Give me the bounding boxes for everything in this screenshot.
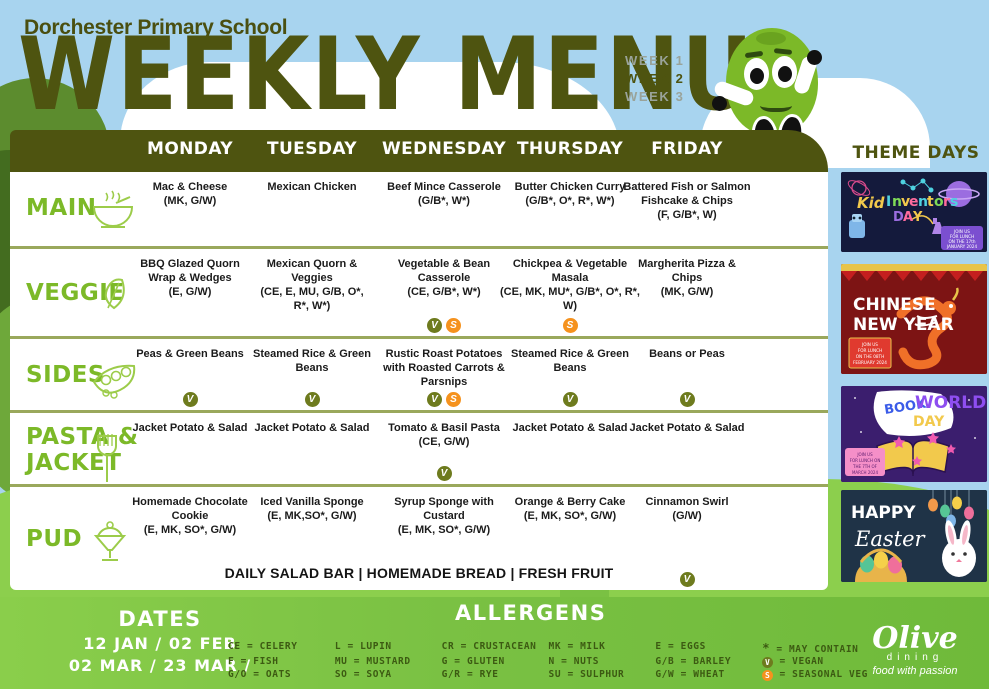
allergen-L: L = LUPIN xyxy=(335,641,436,655)
legend-key-may-contain: * = MAY CONTAIN xyxy=(762,641,868,655)
allergen-CR: CR = CRUSTACEAN xyxy=(442,641,543,655)
table-row: VEGGIEBBQ Glazed Quorn Wrap & Wedges(E, … xyxy=(10,246,828,336)
dish-name: Jacket Potato & Salad xyxy=(133,422,248,434)
svg-text:s: s xyxy=(950,194,958,210)
dish-name: Vegetable & Bean Casserole xyxy=(398,258,490,284)
dish-name: Rustic Roast Potatoes with Roasted Carro… xyxy=(383,348,505,388)
menu-cell: Mexican Quorn & Veggies(CE, E, MU, G/B, … xyxy=(252,257,372,313)
row-label-main: MAIN xyxy=(26,195,97,221)
menu-cell: Orange & Berry Cake(E, MK, SO*, G/W) xyxy=(500,495,640,523)
badge-vegan: V xyxy=(305,392,320,407)
dietary-badges: S xyxy=(500,315,640,333)
menu-cell: Vegetable & Bean Casserole(CE, G/B*, W*) xyxy=(374,257,514,299)
dietary-badges: V xyxy=(622,389,752,407)
svg-text:HAPPY: HAPPY xyxy=(851,503,916,523)
dish-name: Jacket Potato & Salad xyxy=(513,422,628,434)
week-selector[interactable]: WEEK 1 WEEK 2 WEEK 3 xyxy=(625,52,684,106)
svg-text:Kid: Kid xyxy=(857,194,885,212)
dish-allergens: (CE, MK, MU*, G/B*, O*, R*, W) xyxy=(500,285,640,313)
svg-text:FOR LUNCH ON: FOR LUNCH ON xyxy=(850,458,881,463)
svg-text:THE 7TH OF: THE 7TH OF xyxy=(852,464,878,469)
menu-cell: Jacket Potato & Salad xyxy=(252,421,372,435)
svg-text:JANUARY 2024: JANUARY 2024 xyxy=(946,244,978,249)
allergen-SU: SU = SULPHUR xyxy=(549,669,650,681)
svg-text:FEBRUARY 2024: FEBRUARY 2024 xyxy=(853,360,887,365)
allergen-G-B: G/B = BARLEY xyxy=(655,656,756,668)
svg-text:t: t xyxy=(927,194,934,210)
day-header-tuesday: TUESDAY xyxy=(252,139,372,159)
dish-allergens: (F, G/B*, W) xyxy=(622,208,752,222)
svg-text:A: A xyxy=(903,210,913,225)
dish-name: Mexican Chicken xyxy=(267,181,356,193)
dish-allergens: (G/W) xyxy=(622,509,752,523)
table-row: SIDESPeas & Green BeansVSteamed Rice & G… xyxy=(10,336,828,410)
dietary-badges: V xyxy=(374,463,514,481)
dietary-badges: VS xyxy=(374,389,514,407)
table-body: MAINMac & Cheese(MK, G/W)Mexican Chicken… xyxy=(10,172,828,590)
badge-vegan: V xyxy=(183,392,198,407)
svg-text:Y: Y xyxy=(912,210,923,225)
dish-name: Butter Chicken Curry xyxy=(515,181,626,193)
dish-allergens: (E, MK,SO*, G/W) xyxy=(252,509,372,523)
olive-dining-logo: Olive dining food with passion xyxy=(855,624,975,677)
dish-allergens: (MK, G/W) xyxy=(130,194,250,208)
allergen-MU: MU = MUSTARD xyxy=(335,656,436,668)
allergen-N: N = NUTS xyxy=(549,656,650,668)
dish-name: Syrup Sponge with Custard xyxy=(394,496,494,522)
svg-text:WORLD: WORLD xyxy=(915,393,986,413)
svg-text:FOR LUNCH: FOR LUNCH xyxy=(858,348,882,353)
badge-vegan: V xyxy=(563,392,578,407)
dates-title: DATES xyxy=(60,607,260,631)
dish-name: Mexican Quorn & Veggies xyxy=(267,258,357,284)
dish-name: Beans or Peas xyxy=(649,348,725,360)
svg-text:JOIN US: JOIN US xyxy=(861,342,878,347)
menu-cell: Rustic Roast Potatoes with Roasted Carro… xyxy=(374,347,514,389)
dietary-badges: V xyxy=(130,389,250,407)
dish-allergens: (E, MK, SO*, G/W) xyxy=(130,523,250,537)
theme-days-title: THEME DAYS xyxy=(846,143,986,163)
menu-cell: Margherita Pizza & Chips(MK, G/W) xyxy=(622,257,752,299)
dish-allergens: (G/B*, O*, R*, W*) xyxy=(500,194,640,208)
dish-name: Margherita Pizza & Chips xyxy=(638,258,736,284)
daily-extras-note: DAILY SALAD BAR | HOMEMADE BREAD | FRESH… xyxy=(10,565,828,581)
menu-cell: Steamed Rice & Green Beans xyxy=(252,347,372,375)
svg-text:DAY: DAY xyxy=(913,414,945,430)
dietary-badges: V xyxy=(252,389,372,407)
menu-cell: Homemade Chocolate Cookie(E, MK, SO*, G/… xyxy=(130,495,250,537)
day-header-wednesday: WEDNESDAY xyxy=(374,139,514,159)
badge-seasonal: S xyxy=(446,392,461,407)
week-option-3[interactable]: WEEK 3 xyxy=(625,88,684,106)
allergen-G: G = GLUTEN xyxy=(442,656,543,668)
badge-vegan: V xyxy=(427,318,442,333)
logo-tagline: food with passion xyxy=(855,665,975,677)
week-option-2[interactable]: WEEK 2 xyxy=(625,70,684,88)
menu-cell: Tomato & Basil Pasta(CE, G/W) xyxy=(374,421,514,449)
dish-name: Mac & Cheese xyxy=(153,181,228,193)
dish-name: Iced Vanilla Sponge xyxy=(260,496,363,508)
allergens-title: ALLERGENS xyxy=(455,601,606,625)
menu-cell: Chickpea & Vegetable Masala(CE, MK, MU*,… xyxy=(500,257,640,313)
menu-cell: Iced Vanilla Sponge(E, MK,SO*, G/W) xyxy=(252,495,372,523)
menu-cell: Mac & Cheese(MK, G/W) xyxy=(130,180,250,208)
allergen-SO: SO = SOYA xyxy=(335,669,436,681)
dish-name: BBQ Glazed Quorn Wrap & Wedges xyxy=(140,258,240,284)
svg-text:MARCH 2024: MARCH 2024 xyxy=(852,470,878,475)
badge-seasonal: S xyxy=(563,318,578,333)
dish-name: Peas & Green Beans xyxy=(136,348,244,360)
svg-text:CHINESE: CHINESE xyxy=(853,295,936,315)
dish-allergens: (CE, G/W) xyxy=(374,435,514,449)
dish-allergens: (G/B*, W*) xyxy=(374,194,514,208)
svg-text:ON THE 08TH: ON THE 08TH xyxy=(856,354,884,359)
menu-cell: Jacket Potato & Salad xyxy=(130,421,250,435)
svg-text:I: I xyxy=(886,194,891,210)
menu-cell: Cinnamon Swirl(G/W) xyxy=(622,495,752,523)
dish-name: Steamed Rice & Green Beans xyxy=(511,348,629,374)
badge-seasonal: S xyxy=(446,318,461,333)
week-option-1[interactable]: WEEK 1 xyxy=(625,52,684,70)
day-header-monday: MONDAY xyxy=(130,139,250,159)
dish-name: Steamed Rice & Green Beans xyxy=(253,348,371,374)
badge-vegan: V xyxy=(680,392,695,407)
menu-cell: Beans or Peas xyxy=(622,347,752,361)
svg-text:Easter: Easter xyxy=(854,527,926,551)
svg-text:JOIN US: JOIN US xyxy=(856,452,873,457)
dish-allergens: (E, MK, SO*, G/W) xyxy=(500,509,640,523)
legend-key-seasonal-veg: S = SEASONAL VEG xyxy=(762,669,868,681)
theme-card-happy-easter[interactable]: HAPPY Easter xyxy=(841,490,987,582)
menu-cell: Battered Fish or Salmon Fishcake & Chips… xyxy=(622,180,752,222)
day-header-friday: FRIDAY xyxy=(622,139,752,159)
theme-card-kid-inventors-day[interactable]: JOIN US FOR LUNCH ON THE 17th JANUARY 20… xyxy=(841,172,987,252)
menu-cell: Syrup Sponge with Custard(E, MK, SO*, G/… xyxy=(374,495,514,537)
dish-name: Jacket Potato & Salad xyxy=(630,422,745,434)
allergen-MK: MK = MILK xyxy=(549,641,650,655)
badge-vegan: V xyxy=(427,392,442,407)
allergen-G-R: G/R = RYE xyxy=(442,669,543,681)
dietary-badges: V xyxy=(500,389,640,407)
legend-key-vegan: V = VEGAN xyxy=(762,656,868,668)
weekly-menu-poster: Dorchester Primary School WEEKLY MENU WE… xyxy=(0,0,989,689)
dish-name: Jacket Potato & Salad xyxy=(255,422,370,434)
logo-name: Olive xyxy=(855,624,975,654)
svg-text:r: r xyxy=(943,194,950,210)
menu-cell: Mexican Chicken xyxy=(252,180,372,194)
allergens-legend: CE = CELERYL = LUPINCR = CRUSTACEANMK = … xyxy=(228,641,868,681)
allergen-F: F = FISH xyxy=(228,656,329,668)
menu-cell: Beef Mince Casserole(G/B*, W*) xyxy=(374,180,514,208)
badge-vegan: V xyxy=(437,466,452,481)
dish-allergens: (E, MK, SO*, G/W) xyxy=(374,523,514,537)
dish-name: Orange & Berry Cake xyxy=(515,496,626,508)
menu-cell: Jacket Potato & Salad xyxy=(622,421,752,435)
dish-name: Homemade Chocolate Cookie xyxy=(132,496,248,522)
dish-name: Beef Mince Casserole xyxy=(387,181,501,193)
allergen-G-O: G/O = OATS xyxy=(228,669,329,681)
menu-cell: Peas & Green Beans xyxy=(130,347,250,361)
dish-allergens: (MK, G/W) xyxy=(622,285,752,299)
menu-cell: Jacket Potato & Salad xyxy=(500,421,640,435)
allergen-CE: CE = CELERY xyxy=(228,641,329,655)
dish-allergens: (E, G/W) xyxy=(130,285,250,299)
row-label-pud: PUD xyxy=(26,526,82,552)
svg-text:NEW YEAR: NEW YEAR xyxy=(853,315,954,335)
dish-name: Tomato & Basil Pasta xyxy=(388,422,500,434)
theme-card-world-book-day[interactable]: BOOK WORLD DAY JOIN US FOR LUNCH ON THE … xyxy=(841,386,987,482)
day-header-thursday: THURSDAY xyxy=(500,139,640,159)
theme-card-chinese-new-year[interactable]: CHINESE NEW YEAR JOIN US FOR LUNCH ON TH… xyxy=(841,264,987,374)
dish-name: Chickpea & Vegetable Masala xyxy=(513,258,627,284)
menu-table: MONDAYTUESDAYWEDNESDAYTHURSDAYFRIDAY MAI… xyxy=(10,130,828,590)
dish-name: Cinnamon Swirl xyxy=(645,496,728,508)
allergen-G-W: G/W = WHEAT xyxy=(655,669,756,681)
menu-cell: Steamed Rice & Green Beans xyxy=(500,347,640,375)
dish-allergens: (CE, G/B*, W*) xyxy=(374,285,514,299)
dietary-badges: VS xyxy=(374,315,514,333)
dish-allergens: (CE, E, MU, G/B, O*, R*, W*) xyxy=(252,285,372,313)
fork-pasta-icon xyxy=(88,430,138,474)
menu-cell: BBQ Glazed Quorn Wrap & Wedges(E, G/W) xyxy=(130,257,250,299)
dish-name: Battered Fish or Salmon Fishcake & Chips xyxy=(623,181,750,207)
menu-cell: Butter Chicken Curry(G/B*, O*, R*, W*) xyxy=(500,180,640,208)
table-row: PASTA &JACKETJacket Potato & SaladJacket… xyxy=(10,410,828,484)
allergen-E: E = EGGS xyxy=(655,641,756,655)
table-row: MAINMac & Cheese(MK, G/W)Mexican Chicken… xyxy=(10,172,828,246)
